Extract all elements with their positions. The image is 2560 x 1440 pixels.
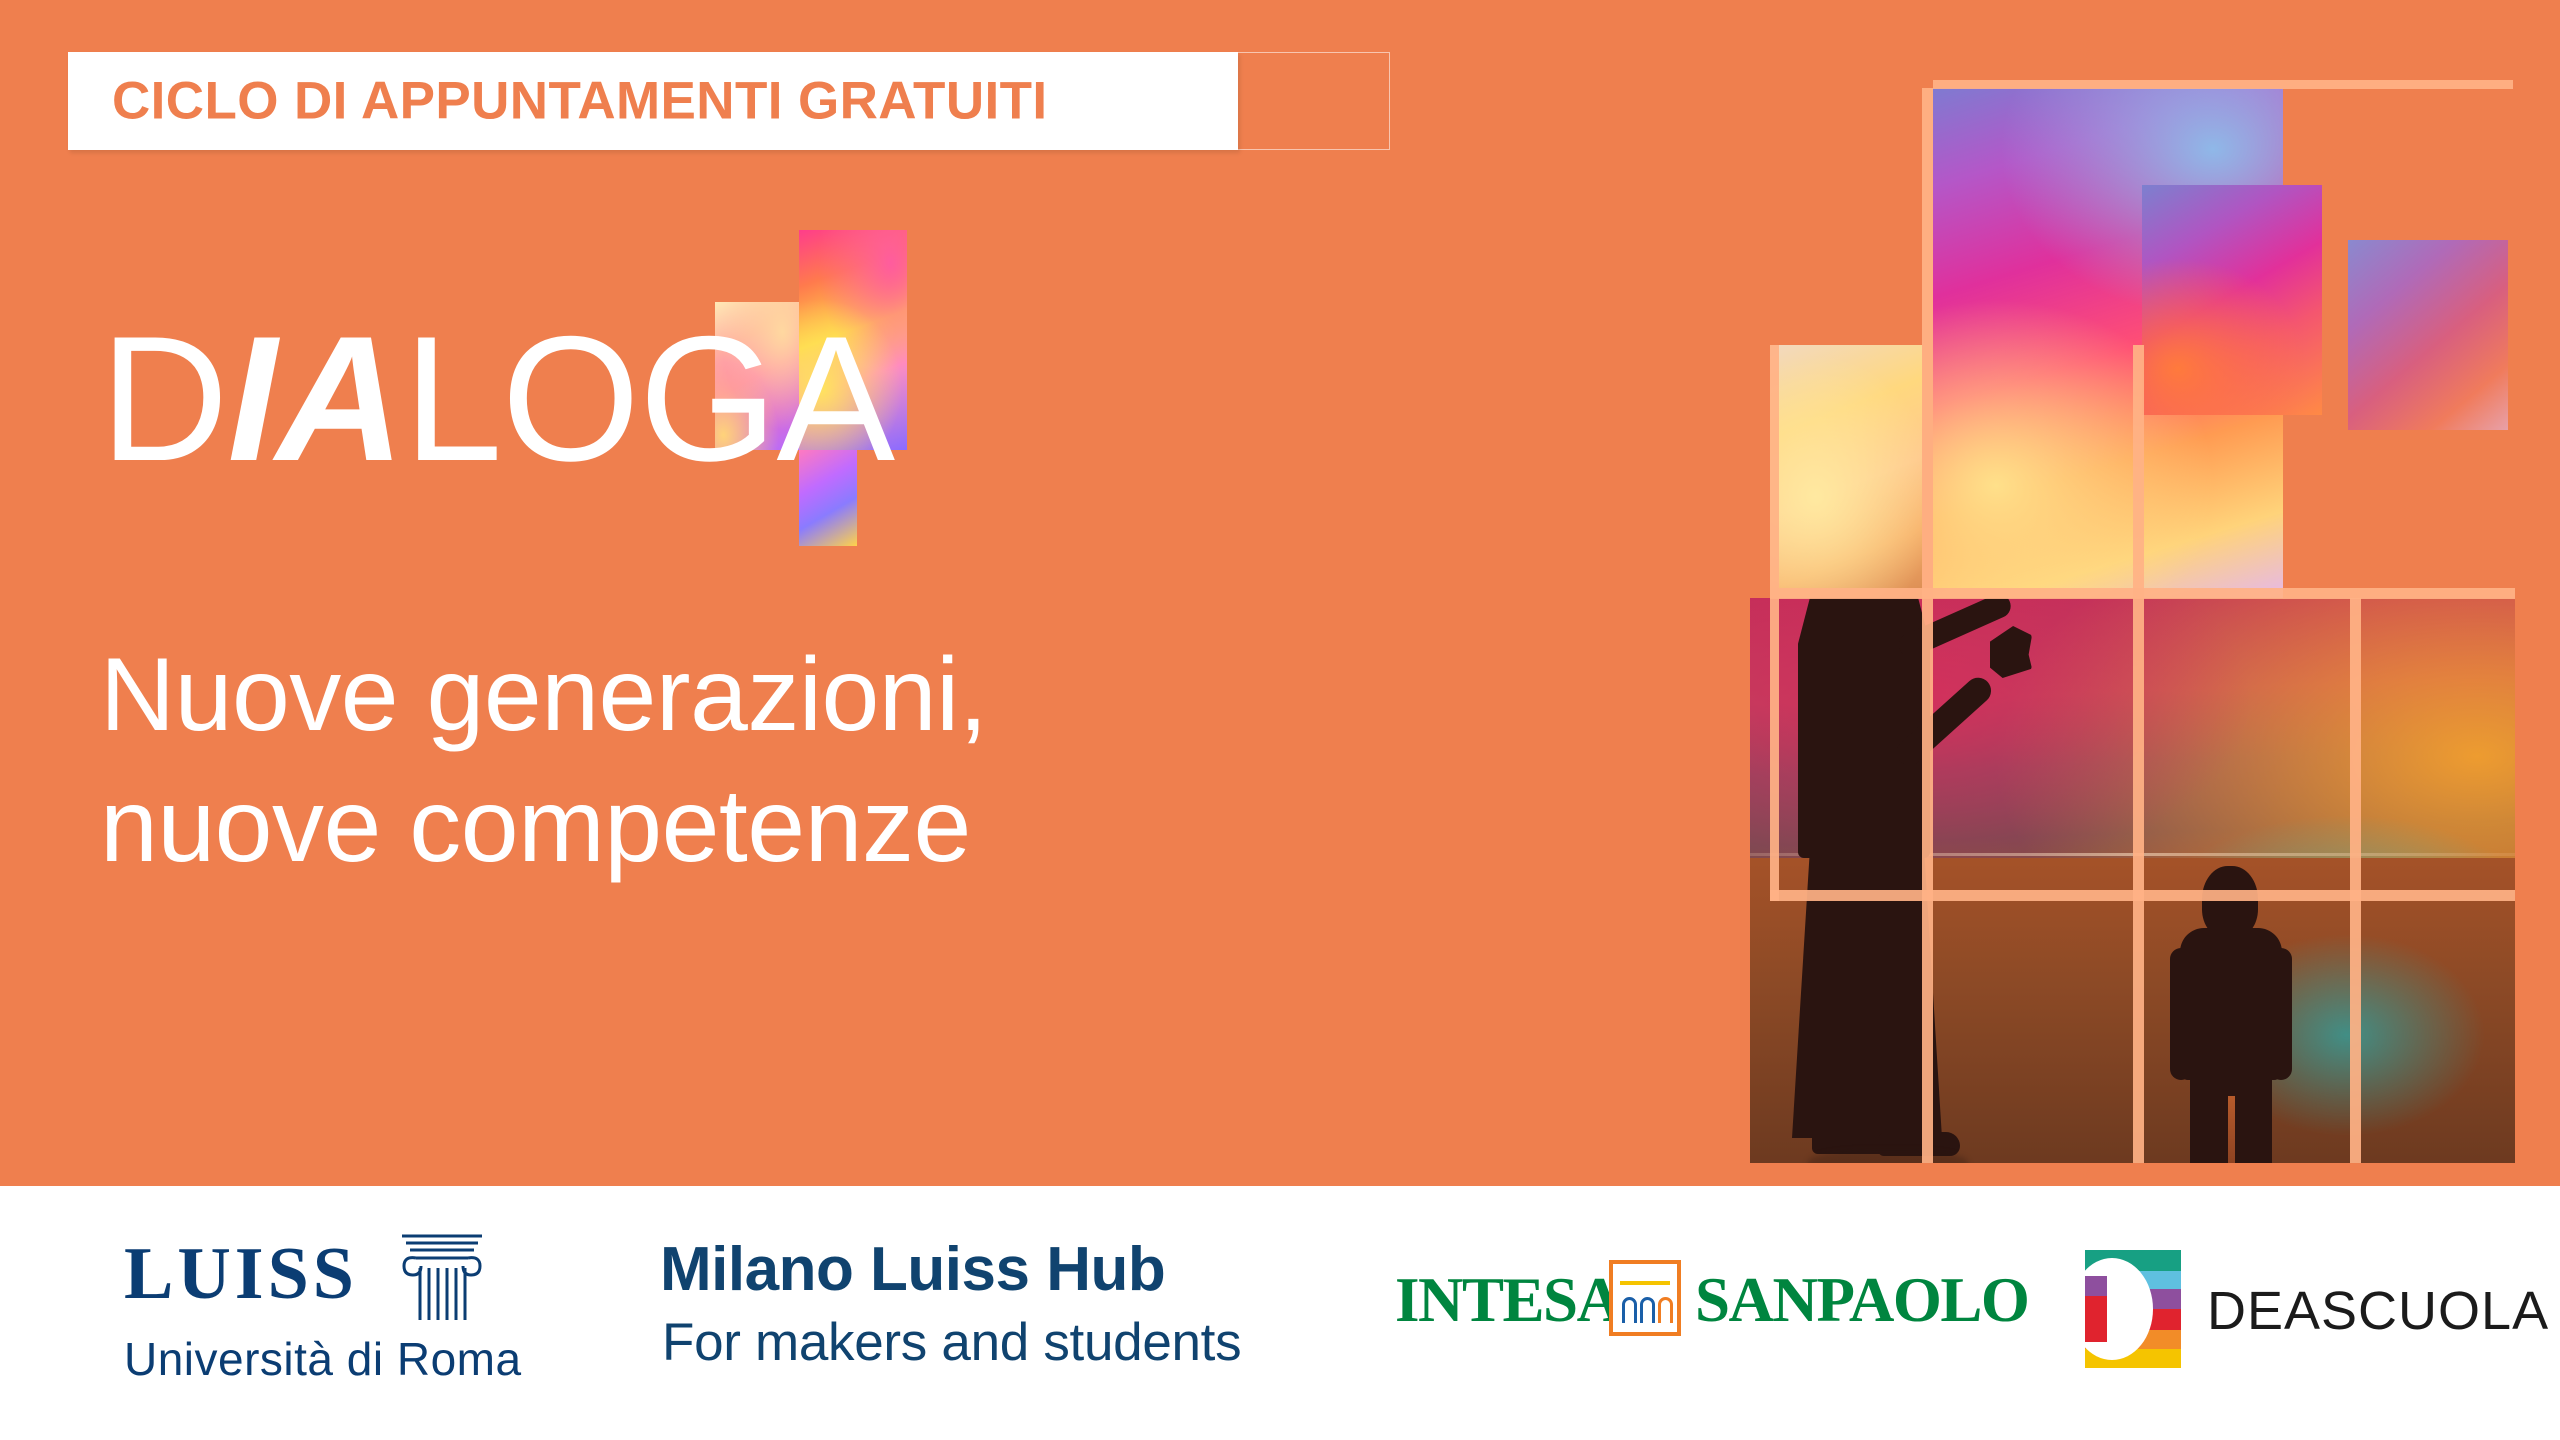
child-torso-silhouette <box>2180 928 2282 1080</box>
dialoga-wordmark: DIALOGA <box>100 310 894 488</box>
arch-3 <box>1658 1297 1673 1323</box>
mosaic-grid-line-h1 <box>1770 588 2515 599</box>
milano-luiss-hub-subtitle: For makers and students <box>662 1312 1241 1373</box>
mosaic-tile-top-mid <box>2142 185 2322 415</box>
mosaic-tile-left-small <box>1770 345 1922 598</box>
kicker-label: CICLO DI APPUNTAMENTI GRATUITI <box>112 71 1048 132</box>
luiss-wordmark: LUISS <box>124 1232 358 1317</box>
child-leg-gap <box>2228 1096 2235 1163</box>
three-arches-icon <box>1609 1260 1681 1336</box>
kicker-banner: CICLO DI APPUNTAMENTI GRATUITI <box>68 52 1390 150</box>
arch-bar <box>1620 1281 1670 1285</box>
mosaic-tile-top-right <box>2348 240 2508 430</box>
adult-floor-reflection <box>1808 1150 1968 1163</box>
dialoga-logo: DIALOGA <box>100 230 1080 560</box>
logo-intesa-sanpaolo[interactable]: INTESA SANPAOLO <box>1395 1262 1985 1358</box>
sanpaolo-wordmark: SANPAOLO <box>1695 1264 2028 1337</box>
page-title: Nuove generazioni, nuove competenze <box>100 630 1280 892</box>
headline-line-2: nuove competenze <box>100 761 1280 892</box>
arch-1 <box>1622 1297 1637 1323</box>
logo-luiss[interactable]: LUISS Università di Ro <box>118 1222 538 1398</box>
rainbow-d-mark-icon <box>2085 1250 2181 1368</box>
dialoga-d: D <box>100 299 228 498</box>
dea-d-notch <box>2085 1276 2107 1342</box>
ionic-column-icon <box>396 1228 488 1324</box>
dialoga-loga: LOGA <box>404 299 895 498</box>
dialoga-ia: IA <box>228 299 404 498</box>
mosaic-grid-line-left-edge <box>1770 345 1779 901</box>
headline-line-1: Nuove generazioni, <box>100 630 1280 761</box>
arch-2 <box>1640 1297 1655 1323</box>
mosaic-grid-line-v2 <box>2133 345 2144 1163</box>
luiss-subtitle: Università di Roma <box>124 1332 522 1386</box>
logo-deascuola[interactable]: DEASCUOLA <box>2085 1254 2485 1366</box>
milano-luiss-hub-title: Milano Luiss Hub <box>660 1234 1165 1305</box>
mosaic-grid-line-h2 <box>1770 890 2515 901</box>
logo-milano-luiss-hub[interactable]: Milano Luiss Hub For makers and students <box>660 1234 1290 1384</box>
deascuola-wordmark: DEASCUOLA <box>2207 1280 2549 1342</box>
mosaic-grid-line-v3 <box>2350 598 2361 1163</box>
sponsor-footer: LUISS Università di Ro <box>0 1186 2560 1440</box>
intesa-wordmark: INTESA <box>1395 1264 1621 1337</box>
mosaic-grid-line-v1 <box>1922 88 1933 1163</box>
mosaic-grid-line-top-edge <box>1933 80 2513 89</box>
